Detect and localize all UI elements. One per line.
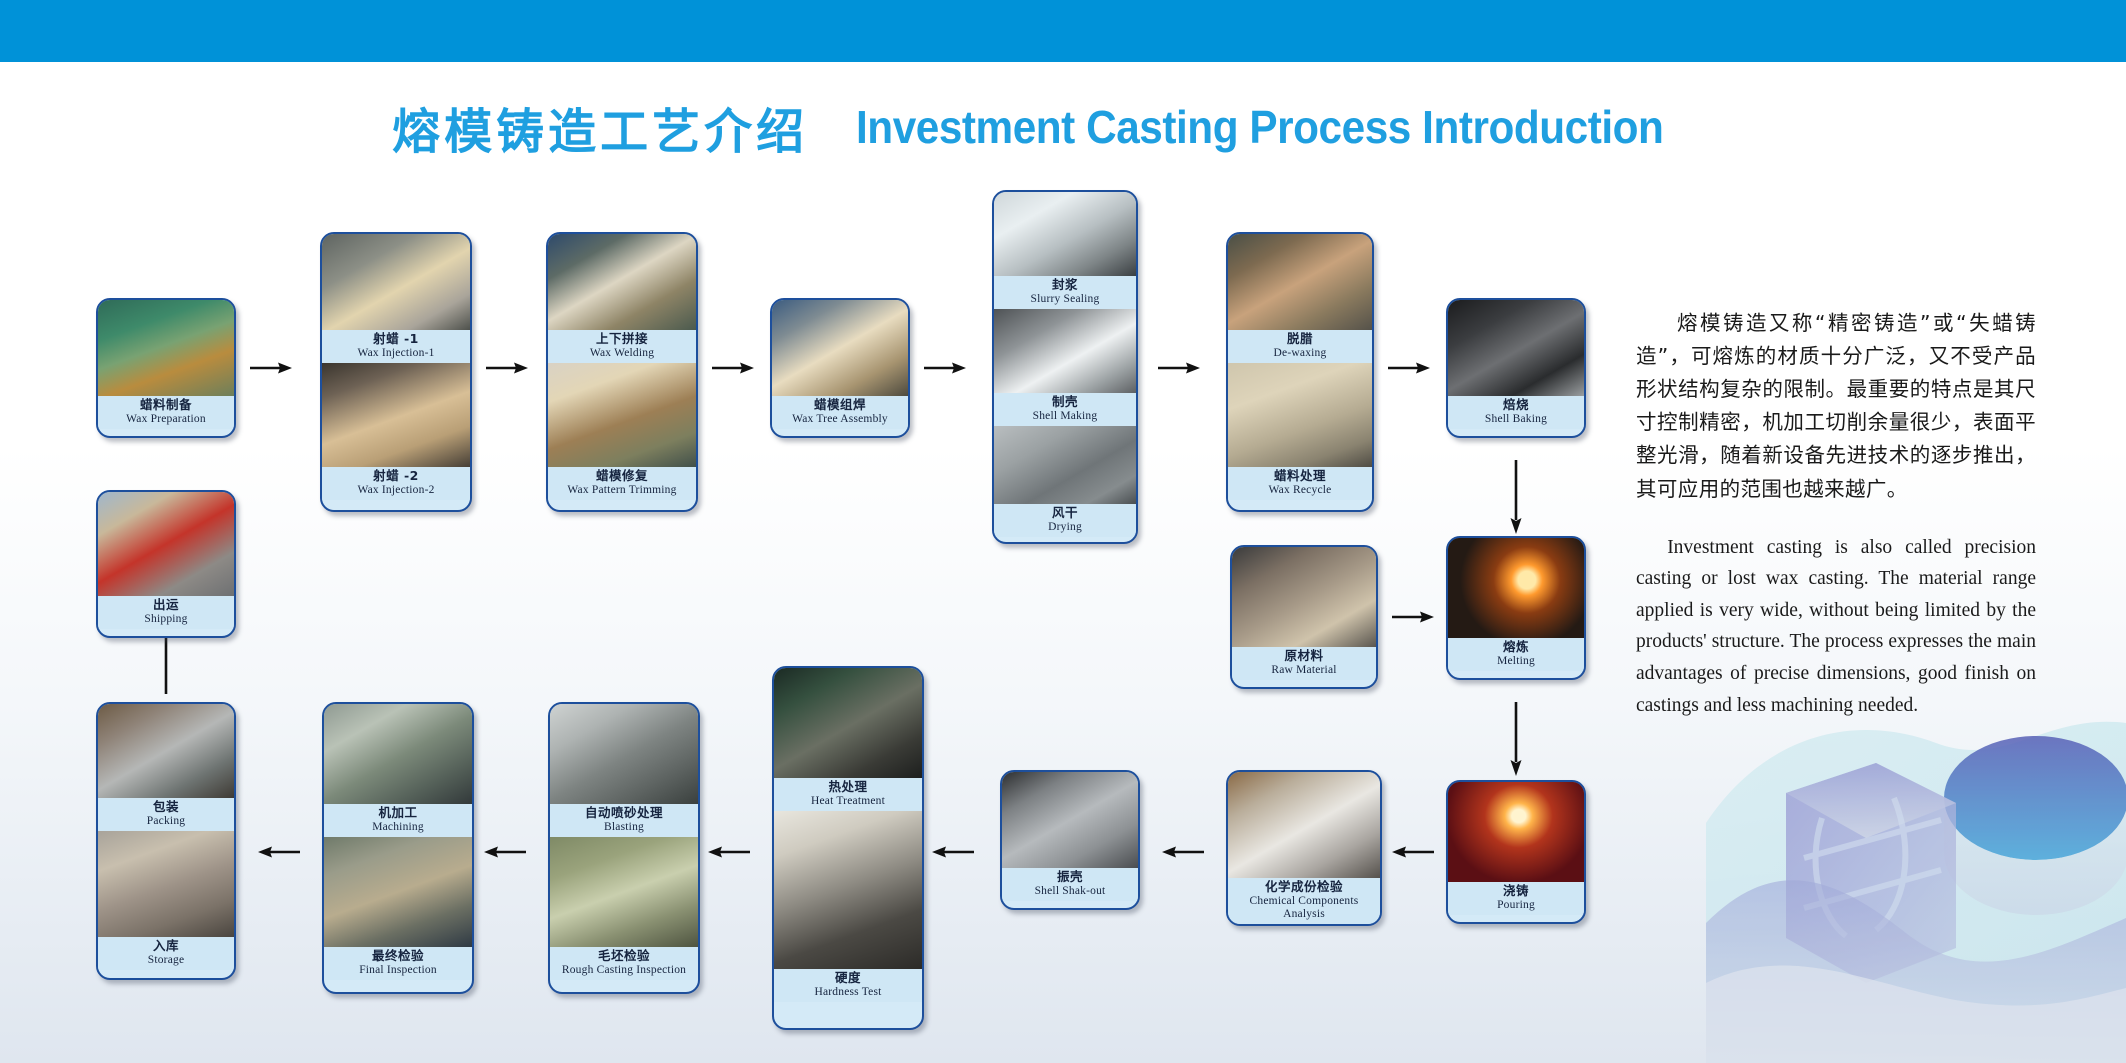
- photo-drying: [994, 426, 1136, 504]
- caption-en: Wax Injection-1: [324, 347, 468, 360]
- caption-slurry-sealing: 封浆 Slurry Sealing: [994, 276, 1136, 309]
- photo-wax-injection-2: [322, 363, 470, 467]
- caption-cn: 上下拼接: [550, 332, 694, 346]
- caption-en: Wax Welding: [550, 347, 694, 360]
- caption-wax-welding: 上下拼接 Wax Welding: [548, 330, 696, 363]
- photo-final-inspection: [324, 837, 472, 947]
- description-paragraph-cn: 熔模铸造又称“精密铸造”或“失蜡铸造”，可熔炼的材质十分广泛，又不受产品形状结构…: [1636, 307, 2036, 506]
- caption-cn: 硬度: [776, 971, 920, 985]
- caption-shell-making: 制壳 Shell Making: [994, 393, 1136, 426]
- page-title-cn: 熔模铸造工艺介绍: [392, 104, 808, 160]
- caption-wax-injection-2: 射蜡 -2 Wax Injection-2: [322, 467, 470, 500]
- decorative-industrial-graphic: [1706, 703, 2126, 1063]
- arrow-left-pouring-to-analysis: [1390, 842, 1436, 862]
- caption-wax-recycle: 蜡料处理 Wax Recycle: [1228, 467, 1372, 500]
- caption-en: Slurry Sealing: [996, 293, 1134, 306]
- caption-en: Shipping: [100, 613, 232, 626]
- step-card-pouring[interactable]: 浇铸 Pouring: [1446, 780, 1586, 924]
- caption-cn: 化学成份检验: [1230, 880, 1378, 894]
- caption-cn: 自动喷砂处理: [552, 806, 696, 820]
- caption-en: Wax Injection-2: [324, 484, 468, 497]
- caption-wax-pattern-trimming: 蜡模修复 Wax Pattern Trimming: [548, 467, 696, 500]
- step-card-melting[interactable]: 熔炼 Melting: [1446, 536, 1586, 680]
- photo-pouring: [1448, 782, 1584, 882]
- photo-wax-welding: [548, 234, 696, 330]
- caption-en: Chemical Components Analysis: [1230, 895, 1378, 921]
- caption-cn: 原材料: [1234, 649, 1374, 663]
- caption-rough-casting-inspection: 毛坯检验 Rough Casting Inspection: [550, 947, 698, 980]
- photo-de-waxing: [1228, 234, 1372, 330]
- step-card-shell-shakeout[interactable]: 振壳 Shell Shak-out: [1000, 770, 1140, 910]
- caption-heat-treatment: 热处理 Heat Treatment: [774, 778, 922, 811]
- caption-cn: 振壳: [1004, 870, 1136, 884]
- step-card-wax-preparation[interactable]: 蜡料制备 Wax Preparation: [96, 298, 236, 438]
- caption-cn: 蜡料处理: [1230, 469, 1370, 483]
- caption-cn: 脱腊: [1230, 332, 1370, 346]
- caption-de-waxing: 脱腊 De-waxing: [1228, 330, 1372, 363]
- caption-cn: 制壳: [996, 395, 1134, 409]
- caption-shell-baking: 焙烧 Shell Baking: [1448, 396, 1584, 429]
- photo-rough-casting-inspection: [550, 837, 698, 947]
- caption-en: Hardness Test: [776, 986, 920, 999]
- caption-melting: 熔炼 Melting: [1448, 638, 1584, 671]
- poster-canvas: 熔模铸造工艺介绍 Investment Casting Process Intr…: [0, 0, 2126, 1063]
- page-title: 熔模铸造工艺介绍 Investment Casting Process Intr…: [0, 92, 2126, 162]
- photo-machining: [324, 704, 472, 804]
- photo-packing: [98, 704, 234, 798]
- caption-cn: 蜡模修复: [550, 469, 694, 483]
- caption-storage: 入库 Storage: [98, 937, 234, 970]
- photo-shell-shakeout: [1002, 772, 1138, 868]
- step-card-heat-treatment[interactable]: 热处理 Heat Treatment 硬度 Hardness Test: [772, 666, 924, 1030]
- step-card-chemical-analysis[interactable]: 化学成份检验 Chemical Components Analysis: [1226, 770, 1382, 926]
- step-card-wax-welding[interactable]: 上下拼接 Wax Welding 蜡模修复 Wax Pattern Trimmi…: [546, 232, 698, 512]
- photo-wax-pattern-trimming: [548, 363, 696, 467]
- caption-packing: 包装 Packing: [98, 798, 234, 831]
- arrow-down-melting-to-pouring: [1506, 700, 1526, 778]
- caption-cn: 包装: [100, 800, 232, 814]
- step-card-wax-injection[interactable]: 射蜡 -1 Wax Injection-1 射蜡 -2 Wax Injectio…: [320, 232, 472, 512]
- step-card-machining[interactable]: 机加工 Machining 最终检验 Final Inspection: [322, 702, 474, 994]
- photo-slurry-sealing: [994, 192, 1136, 276]
- photo-hardness-test: [774, 811, 922, 969]
- photo-wax-recycle: [1228, 363, 1372, 467]
- arrow-right-raw-material-to-melting: [1390, 607, 1436, 627]
- photo-shipping: [98, 492, 234, 596]
- arrow-right-1: [248, 358, 294, 378]
- caption-cn: 热处理: [776, 780, 920, 794]
- step-card-raw-material[interactable]: 原材料 Raw Material: [1230, 545, 1378, 689]
- caption-en: Packing: [100, 815, 232, 828]
- caption-machining: 机加工 Machining: [324, 804, 472, 837]
- page-title-en: Investment Casting Process Introduction: [856, 100, 1663, 154]
- arrow-left-blasting-to-machining: [482, 842, 528, 862]
- caption-en: Wax Recycle: [1230, 484, 1370, 497]
- step-card-shell-baking[interactable]: 焙烧 Shell Baking: [1446, 298, 1586, 438]
- top-banner: [0, 0, 2126, 62]
- step-card-dewaxing[interactable]: 脱腊 De-waxing 蜡料处理 Wax Recycle: [1226, 232, 1374, 512]
- arrow-right-6: [1386, 358, 1432, 378]
- arrow-left-heat-to-blasting: [706, 842, 752, 862]
- caption-en: Drying: [996, 521, 1134, 534]
- photo-chemical-analysis: [1228, 772, 1380, 878]
- photo-melting: [1448, 538, 1584, 638]
- description-paragraph-en: Investment casting is also called precis…: [1636, 532, 2036, 721]
- caption-hardness-test: 硬度 Hardness Test: [774, 969, 922, 1002]
- caption-cn: 熔炼: [1450, 640, 1582, 654]
- caption-en: Wax Preparation: [100, 413, 232, 426]
- step-card-shipping[interactable]: 出运 Shipping: [96, 490, 236, 638]
- caption-en: De-waxing: [1230, 347, 1370, 360]
- photo-storage: [98, 831, 234, 937]
- caption-drying: 风干 Drying: [994, 504, 1136, 537]
- caption-en: Storage: [100, 954, 232, 967]
- step-card-shell-building[interactable]: 封浆 Slurry Sealing 制壳 Shell Making 风干 Dry…: [992, 190, 1138, 544]
- caption-en: Raw Material: [1234, 664, 1374, 677]
- caption-wax-tree-assembly: 蜡模组焊 Wax Tree Assembly: [772, 396, 908, 429]
- caption-cn: 机加工: [326, 806, 470, 820]
- caption-en: Rough Casting Inspection: [552, 964, 696, 977]
- step-card-packing[interactable]: 包装 Packing 入库 Storage: [96, 702, 236, 980]
- caption-wax-preparation: 蜡料制备 Wax Preparation: [98, 396, 234, 429]
- arrow-right-5: [1156, 358, 1202, 378]
- caption-wax-injection-1: 射蜡 -1 Wax Injection-1: [322, 330, 470, 363]
- caption-cn: 射蜡 -2: [324, 469, 468, 483]
- step-card-blasting[interactable]: 自动喷砂处理 Blasting 毛坯检验 Rough Casting Inspe…: [548, 702, 700, 994]
- caption-en: Blasting: [552, 821, 696, 834]
- caption-chemical-analysis: 化学成份检验 Chemical Components Analysis: [1228, 878, 1380, 924]
- arrow-right-4: [922, 358, 968, 378]
- photo-heat-treatment: [774, 668, 922, 778]
- caption-en: Pouring: [1450, 899, 1582, 912]
- caption-cn: 射蜡 -1: [324, 332, 468, 346]
- caption-cn: 封浆: [996, 278, 1134, 292]
- caption-final-inspection: 最终检验 Final Inspection: [324, 947, 472, 980]
- caption-blasting: 自动喷砂处理 Blasting: [550, 804, 698, 837]
- caption-cn: 焙烧: [1450, 398, 1582, 412]
- caption-en: Wax Tree Assembly: [774, 413, 906, 426]
- caption-en: Shell Baking: [1450, 413, 1582, 426]
- caption-cn: 浇铸: [1450, 884, 1582, 898]
- arrow-left-machining-to-packing: [256, 842, 302, 862]
- arrow-left-analysis-to-shakeout: [1160, 842, 1206, 862]
- caption-en: Melting: [1450, 655, 1582, 668]
- caption-en: Wax Pattern Trimming: [550, 484, 694, 497]
- photo-shell-baking: [1448, 300, 1584, 396]
- caption-cn: 风干: [996, 506, 1134, 520]
- caption-pouring: 浇铸 Pouring: [1448, 882, 1584, 915]
- caption-cn: 蜡料制备: [100, 398, 232, 412]
- photo-wax-preparation: [98, 300, 234, 396]
- caption-en: Shell Making: [996, 410, 1134, 423]
- caption-en: Final Inspection: [326, 964, 470, 977]
- caption-cn: 蜡模组焊: [774, 398, 906, 412]
- photo-wax-tree-assembly: [772, 300, 908, 396]
- caption-cn: 最终检验: [326, 949, 470, 963]
- caption-shell-shakeout: 振壳 Shell Shak-out: [1002, 868, 1138, 901]
- caption-en: Shell Shak-out: [1004, 885, 1136, 898]
- caption-en: Machining: [326, 821, 470, 834]
- caption-raw-material: 原材料 Raw Material: [1232, 647, 1376, 680]
- caption-cn: 出运: [100, 598, 232, 612]
- photo-shell-making: [994, 309, 1136, 393]
- arrow-right-2: [484, 358, 530, 378]
- caption-en: Heat Treatment: [776, 795, 920, 808]
- photo-wax-injection-1: [322, 234, 470, 330]
- arrow-left-shakeout-to-heat-treatment: [930, 842, 976, 862]
- step-card-wax-tree-assembly[interactable]: 蜡模组焊 Wax Tree Assembly: [770, 298, 910, 438]
- caption-cn: 入库: [100, 939, 232, 953]
- description-block: 熔模铸造又称“精密铸造”或“失蜡铸造”，可熔炼的材质十分广泛，又不受产品形状结构…: [1636, 286, 2036, 741]
- caption-cn: 毛坯检验: [552, 949, 696, 963]
- photo-blasting: [550, 704, 698, 804]
- arrow-right-3: [710, 358, 756, 378]
- arrow-down-shell-baking-to-melting: [1506, 458, 1526, 536]
- caption-shipping: 出运 Shipping: [98, 596, 234, 629]
- photo-raw-material: [1232, 547, 1376, 647]
